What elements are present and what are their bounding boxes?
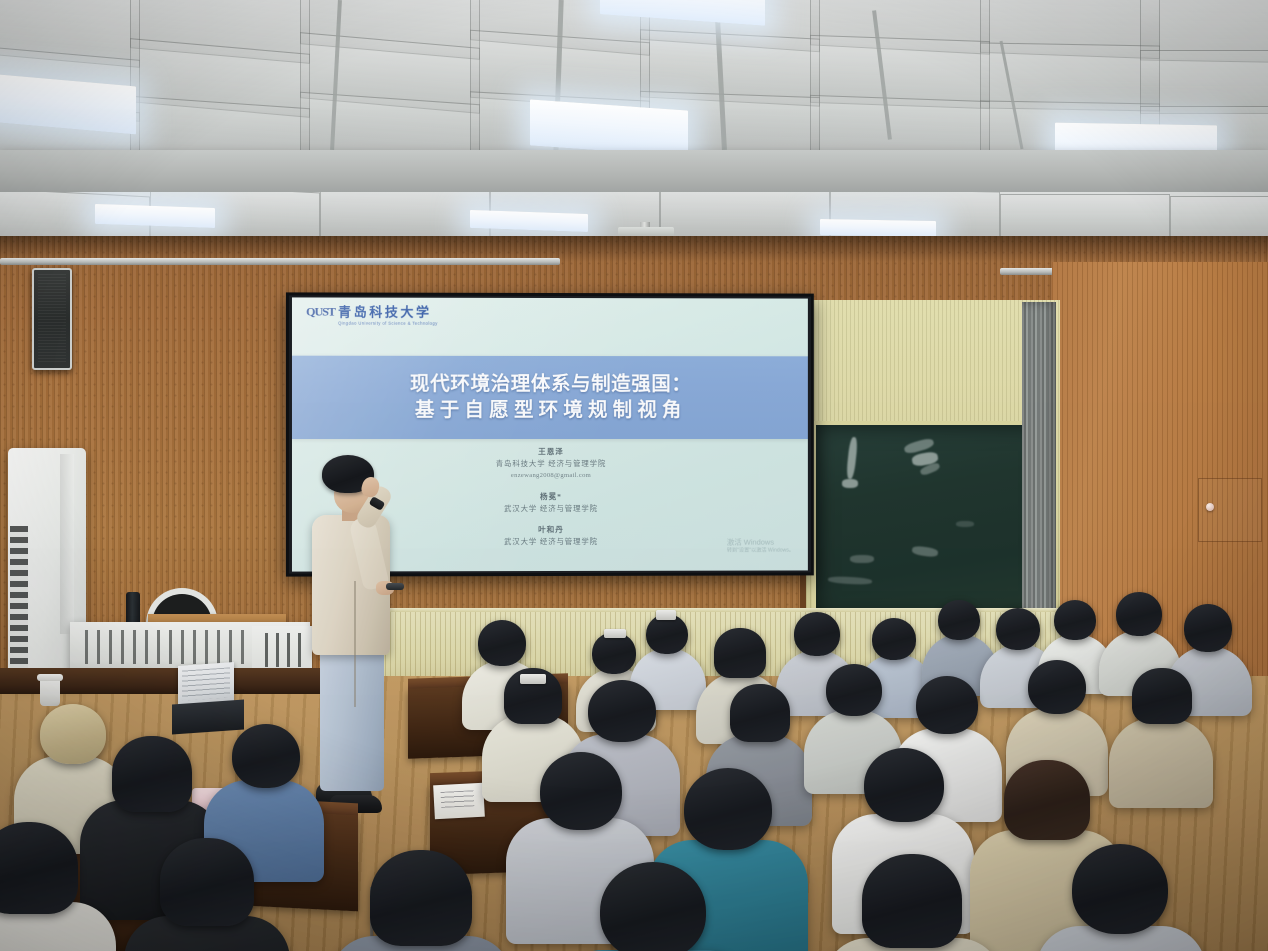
- presentation-clicker[interactable]: [386, 583, 404, 590]
- watermark-line2: 转到"设置"以激活 Windows。: [727, 548, 794, 555]
- lecture-hall-photo: EPSON QUST 青岛科技大学: [0, 0, 1268, 951]
- logo-english-name: Qingdao University of Science & Technolo…: [338, 321, 438, 326]
- author-entry: 王恩泽 青岛科技大学 经济与管理学院 enzewang2008@gmail.co…: [496, 446, 607, 482]
- slide-title-line1: 现代环境治理体系与制造强国：: [410, 372, 691, 397]
- author-affiliation: 青岛科技大学 经济与管理学院: [496, 458, 607, 470]
- laptop-keyboard[interactable]: [172, 699, 244, 734]
- ac-vent: [10, 526, 28, 676]
- presenter-jeans: [320, 643, 384, 791]
- author-entry: 叶和丹 武汉大学 经济与管理学院: [504, 524, 598, 548]
- wall-speaker: [32, 268, 72, 370]
- slide-title-band: 现代环境治理体系与制造强国： 基于自愿型环境规制视角: [292, 356, 808, 439]
- watermark-line1: 激活 Windows: [727, 537, 794, 547]
- author-name: 杨冕*: [540, 491, 562, 503]
- presenter: [300, 455, 410, 830]
- author-entry: 杨冕* 武汉大学 经济与管理学院: [504, 491, 598, 515]
- coffee-cup-lid: [37, 674, 63, 681]
- notebook-page: [433, 783, 485, 820]
- windows-activation-watermark: 激活 Windows 转到"设置"以激活 Windows。: [727, 537, 794, 554]
- coffee-cup[interactable]: [40, 678, 60, 706]
- author-email: enzewang2008@gmail.com: [511, 470, 591, 482]
- wall-knob[interactable]: [1206, 503, 1214, 511]
- university-logo: QUST 青岛科技大学 Qingdao University of Scienc…: [306, 305, 438, 325]
- author-name: 王恩泽: [538, 446, 564, 458]
- chalkboard: [812, 421, 1048, 621]
- author-name: 叶和丹: [538, 524, 564, 536]
- author-affiliation: 武汉大学 经济与管理学院: [504, 536, 598, 548]
- logo-mark-text: QUST: [306, 305, 335, 317]
- logo-chinese-name: 青岛科技大学: [338, 306, 438, 319]
- slide-title-line2: 基于自愿型环境规制视角: [415, 397, 687, 422]
- author-affiliation: 武汉大学 经济与管理学院: [504, 503, 598, 515]
